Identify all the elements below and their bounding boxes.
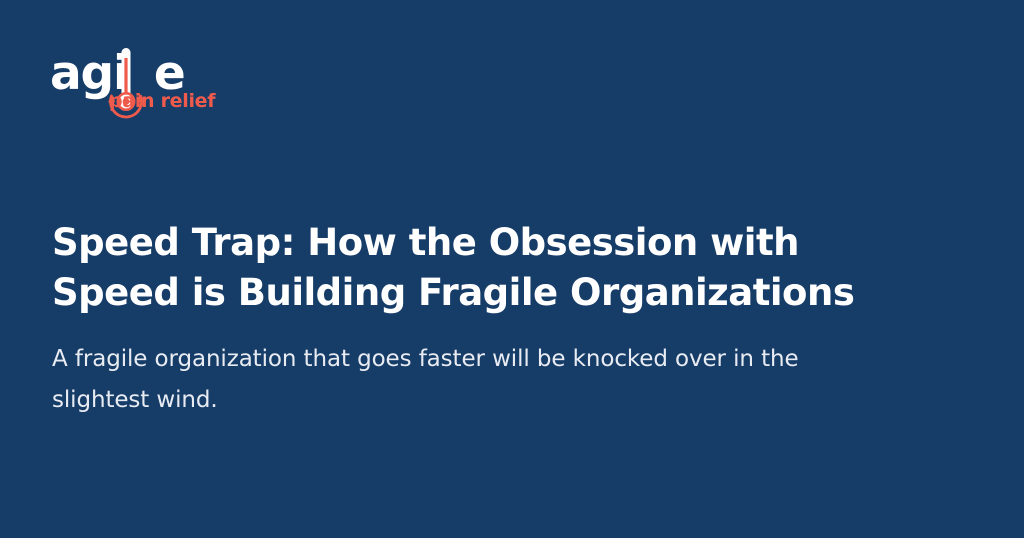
title-slide: agie pain relief Speed Trap: How the Obs… [0,0,1024,538]
slide-content: Speed Trap: How the Obsession with Speed… [52,218,882,421]
page-subtitle: A fragile organization that goes faster … [52,339,852,421]
logo-tagline: pain relief [109,92,215,111]
agile-pain-relief-logo[interactable]: agie pain relief [50,48,310,124]
page-title: Speed Trap: How the Obsession with Speed… [52,218,882,318]
